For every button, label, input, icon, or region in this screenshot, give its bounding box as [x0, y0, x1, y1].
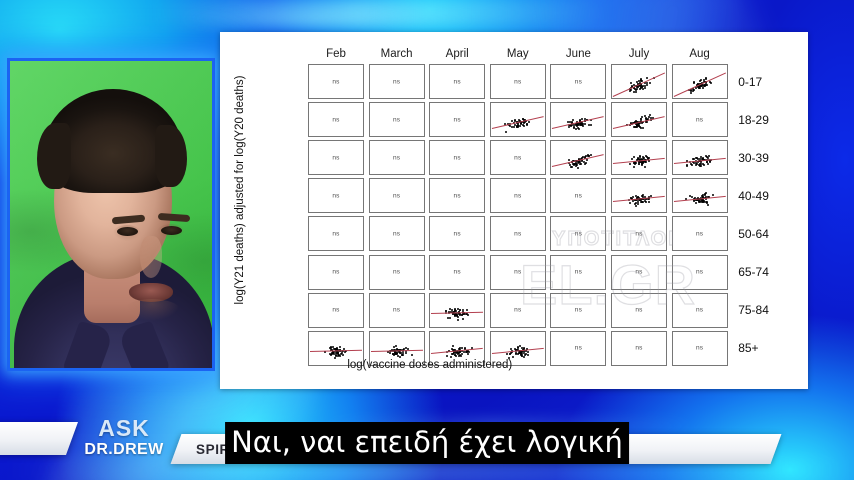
scatter-panel[interactable]: ns	[369, 102, 425, 137]
data-point	[519, 345, 521, 347]
data-point	[526, 123, 528, 125]
data-point	[648, 201, 650, 203]
eye-left	[117, 227, 138, 236]
data-point	[461, 353, 463, 355]
data-point	[646, 77, 648, 79]
data-point	[707, 204, 709, 206]
scatter-panel[interactable]: ns	[490, 293, 546, 328]
scatter-panel[interactable]: ns	[429, 102, 485, 137]
scatter-panel[interactable]: ns	[369, 64, 425, 99]
scatter-panel[interactable]: ns	[672, 216, 728, 251]
data-point	[513, 126, 515, 128]
data-point	[586, 159, 588, 161]
not-significant-label: ns	[491, 307, 545, 314]
eye-right	[161, 226, 182, 235]
not-significant-label: ns	[309, 78, 363, 85]
scatter-panel[interactable]	[611, 102, 667, 137]
data-point	[462, 318, 464, 320]
column-header-may: May	[490, 46, 546, 62]
regression-line	[673, 72, 725, 97]
data-point	[450, 356, 452, 358]
data-point	[686, 165, 688, 167]
scatter-panel[interactable]	[672, 64, 728, 99]
column-header-july: July	[611, 46, 667, 62]
not-significant-label: ns	[370, 192, 424, 199]
data-point	[690, 163, 692, 165]
not-significant-label: ns	[430, 78, 484, 85]
data-point	[509, 353, 511, 355]
data-point	[585, 162, 587, 164]
data-point	[584, 123, 586, 125]
column-header-april: April	[429, 46, 485, 62]
scatter-panel[interactable]: ns	[308, 216, 364, 251]
broadcast-frame: FebMarchAprilMayJuneJulyAug0-1718-2930-3…	[0, 0, 854, 480]
regression-line	[613, 72, 665, 97]
data-point	[506, 353, 508, 355]
not-significant-label: ns	[430, 154, 484, 161]
not-significant-label: ns	[491, 230, 545, 237]
data-point	[630, 82, 632, 84]
data-point	[577, 127, 579, 129]
data-point	[581, 124, 583, 126]
chin	[124, 299, 180, 321]
data-point	[452, 345, 454, 347]
column-header-june: June	[550, 46, 606, 62]
not-significant-label: ns	[673, 269, 727, 276]
data-point	[690, 92, 692, 94]
scatter-panel[interactable]: ns	[550, 255, 606, 290]
not-significant-label: ns	[551, 307, 605, 314]
data-point	[340, 353, 342, 355]
not-significant-label: ns	[612, 230, 666, 237]
data-point	[649, 114, 651, 116]
not-significant-label: ns	[309, 192, 363, 199]
show-logo-line1: ASK	[70, 417, 178, 440]
not-significant-label: ns	[491, 269, 545, 276]
data-point	[692, 90, 694, 92]
data-point	[395, 345, 397, 347]
data-point	[707, 163, 709, 165]
data-point	[590, 124, 592, 126]
scatter-panel[interactable]	[550, 140, 606, 175]
regression-line	[552, 154, 604, 167]
data-point	[693, 82, 695, 84]
scatter-panel[interactable]: ns	[672, 331, 728, 366]
data-point	[629, 90, 631, 92]
data-point	[397, 355, 399, 357]
data-point	[633, 156, 635, 158]
data-point	[706, 201, 708, 203]
not-significant-label: ns	[673, 230, 727, 237]
scatter-panel[interactable]: ns	[550, 293, 606, 328]
row-label-0-17: 0-17	[738, 74, 762, 90]
shirt-collar-left	[61, 321, 115, 371]
data-point	[638, 125, 640, 127]
scatter-panel[interactable]	[611, 140, 667, 175]
row-label-85plus: 85+	[738, 340, 758, 356]
y-axis-label: log(Y21 deaths) adjusted for log(Y20 dea…	[234, 34, 246, 346]
not-significant-label: ns	[491, 154, 545, 161]
x-axis-label: log(vaccine doses administered)	[220, 359, 640, 371]
not-significant-label: ns	[612, 307, 666, 314]
scatter-panel[interactable]: ns	[672, 255, 728, 290]
not-significant-label: ns	[612, 345, 666, 352]
data-point	[644, 87, 646, 89]
not-significant-label: ns	[551, 345, 605, 352]
not-significant-label: ns	[309, 154, 363, 161]
data-point	[641, 86, 643, 88]
row-label-75-84: 75-84	[738, 302, 769, 318]
guest-video-tile[interactable]	[7, 58, 215, 371]
scatter-panel[interactable]: ns	[429, 64, 485, 99]
not-significant-label: ns	[612, 269, 666, 276]
scatter-panel[interactable]: ns	[611, 216, 667, 251]
column-header-feb: Feb	[308, 46, 364, 62]
data-point	[633, 166, 635, 168]
scatter-panel[interactable]: ns	[550, 216, 606, 251]
scatter-panel[interactable]	[611, 64, 667, 99]
not-significant-label: ns	[430, 116, 484, 123]
data-point	[577, 162, 579, 164]
scatter-panel[interactable]	[550, 102, 606, 137]
scatter-panel[interactable]: ns	[429, 255, 485, 290]
not-significant-label: ns	[370, 116, 424, 123]
not-significant-label: ns	[309, 230, 363, 237]
scatter-panel[interactable]: ns	[308, 102, 364, 137]
scatter-panel[interactable]	[429, 293, 485, 328]
scatter-panel[interactable]	[611, 178, 667, 213]
data-point	[523, 125, 525, 127]
data-point	[638, 163, 640, 165]
scatter-panel[interactable]: ns	[308, 178, 364, 213]
not-significant-label: ns	[370, 154, 424, 161]
nose	[140, 236, 162, 278]
not-significant-label: ns	[370, 78, 424, 85]
scatter-panel[interactable]: ns	[672, 102, 728, 137]
scatter-panel[interactable]: ns	[369, 216, 425, 251]
data-point	[703, 164, 705, 166]
data-point	[695, 164, 697, 166]
row-label-40-49: 40-49	[738, 188, 769, 204]
row-label-30-39: 30-39	[738, 150, 769, 166]
chart-card[interactable]: FebMarchAprilMayJuneJulyAug0-1718-2930-3…	[220, 32, 808, 389]
scatter-panel[interactable]	[490, 102, 546, 137]
scatter-panel[interactable]: ns	[550, 64, 606, 99]
data-point	[449, 308, 451, 310]
scatter-panel[interactable]: ns	[490, 178, 546, 213]
not-significant-label: ns	[309, 269, 363, 276]
not-significant-label: ns	[430, 192, 484, 199]
data-point	[635, 91, 637, 93]
data-point	[635, 205, 637, 207]
data-point	[528, 121, 530, 123]
not-significant-label: ns	[430, 269, 484, 276]
scatter-panel[interactable]: ns	[429, 178, 485, 213]
scatter-panel[interactable]: ns	[490, 216, 546, 251]
data-point	[573, 127, 575, 129]
data-point	[405, 347, 407, 349]
scatter-panel[interactable]: ns	[429, 216, 485, 251]
subtitle-caption: Ναι, ναι επειδή έχει λογική	[225, 422, 629, 464]
scatter-panel[interactable]: ns	[672, 293, 728, 328]
not-significant-label: ns	[551, 192, 605, 199]
not-significant-label: ns	[551, 269, 605, 276]
data-point	[517, 347, 519, 349]
data-point	[446, 355, 448, 357]
scatter-panel[interactable]: ns	[369, 255, 425, 290]
data-point	[519, 125, 521, 127]
data-point	[629, 202, 631, 204]
scatter-panel[interactable]: ns	[369, 178, 425, 213]
data-point	[523, 356, 525, 358]
data-point	[646, 84, 648, 86]
not-significant-label: ns	[551, 230, 605, 237]
column-header-march: March	[369, 46, 425, 62]
data-point	[695, 202, 697, 204]
not-significant-label: ns	[673, 116, 727, 123]
data-point	[637, 203, 639, 205]
scatter-panel[interactable]: ns	[611, 255, 667, 290]
row-label-18-29: 18-29	[738, 112, 769, 128]
data-point	[457, 319, 459, 321]
data-point	[568, 159, 570, 161]
row-label-65-74: 65-74	[738, 264, 769, 280]
data-point	[709, 161, 711, 163]
not-significant-label: ns	[309, 307, 363, 314]
data-point	[642, 127, 644, 129]
not-significant-label: ns	[491, 78, 545, 85]
data-point	[644, 166, 646, 168]
data-point	[527, 351, 529, 353]
data-point	[631, 158, 633, 160]
data-point	[339, 346, 341, 348]
data-point	[459, 314, 461, 316]
eyebrow-left	[112, 215, 145, 225]
data-point	[512, 356, 514, 358]
scatter-panel[interactable]: ns	[490, 140, 546, 175]
data-point	[575, 165, 577, 167]
scatter-panel[interactable]: ns	[308, 64, 364, 99]
shirt-collar-right	[117, 321, 172, 371]
row-label-50-64: 50-64	[738, 226, 769, 242]
lower-third-left-plate	[0, 422, 78, 455]
data-point	[642, 88, 644, 90]
data-point	[568, 126, 570, 128]
data-point	[411, 354, 413, 356]
scatter-panel[interactable]: ns	[308, 140, 364, 175]
scatter-panel[interactable]: ns	[490, 64, 546, 99]
scatter-panel[interactable]	[672, 140, 728, 175]
data-point	[700, 165, 702, 167]
show-logo: ASK DR.DREW	[70, 417, 178, 467]
scatter-panel[interactable]: ns	[429, 140, 485, 175]
not-significant-label: ns	[673, 345, 727, 352]
data-point	[577, 167, 579, 169]
data-point	[405, 352, 407, 354]
data-point	[641, 163, 643, 165]
scatter-panel[interactable]: ns	[369, 140, 425, 175]
scatter-panel-grid: FebMarchAprilMayJuneJulyAug0-1718-2930-3…	[308, 46, 752, 380]
data-point	[339, 355, 341, 357]
data-point	[705, 155, 707, 157]
scatter-panel[interactable]: ns	[308, 255, 364, 290]
data-point	[527, 354, 529, 356]
scatter-panel[interactable]	[672, 178, 728, 213]
not-significant-label: ns	[309, 116, 363, 123]
data-point	[580, 163, 582, 165]
data-point	[342, 354, 344, 356]
scatter-panel[interactable]: ns	[369, 293, 425, 328]
data-point	[449, 317, 451, 319]
not-significant-label: ns	[491, 192, 545, 199]
not-significant-label: ns	[370, 307, 424, 314]
data-point	[636, 88, 638, 90]
scatter-panel[interactable]: ns	[611, 293, 667, 328]
not-significant-label: ns	[430, 230, 484, 237]
not-significant-label: ns	[551, 78, 605, 85]
data-point	[629, 163, 631, 165]
column-header-aug: Aug	[672, 46, 728, 62]
data-point	[520, 353, 522, 355]
data-point	[712, 194, 714, 196]
not-significant-label: ns	[370, 269, 424, 276]
data-point	[649, 82, 651, 84]
data-point	[467, 353, 469, 355]
data-point	[454, 354, 456, 356]
show-logo-line2: DR.DREW	[70, 442, 178, 458]
scatter-panel[interactable]: ns	[308, 293, 364, 328]
scatter-panel[interactable]: ns	[490, 255, 546, 290]
eyebrow-right	[158, 213, 190, 222]
data-point	[572, 119, 574, 121]
scatter-panel[interactable]: ns	[550, 178, 606, 213]
not-significant-label: ns	[370, 230, 424, 237]
not-significant-label: ns	[673, 307, 727, 314]
data-point	[505, 131, 507, 133]
